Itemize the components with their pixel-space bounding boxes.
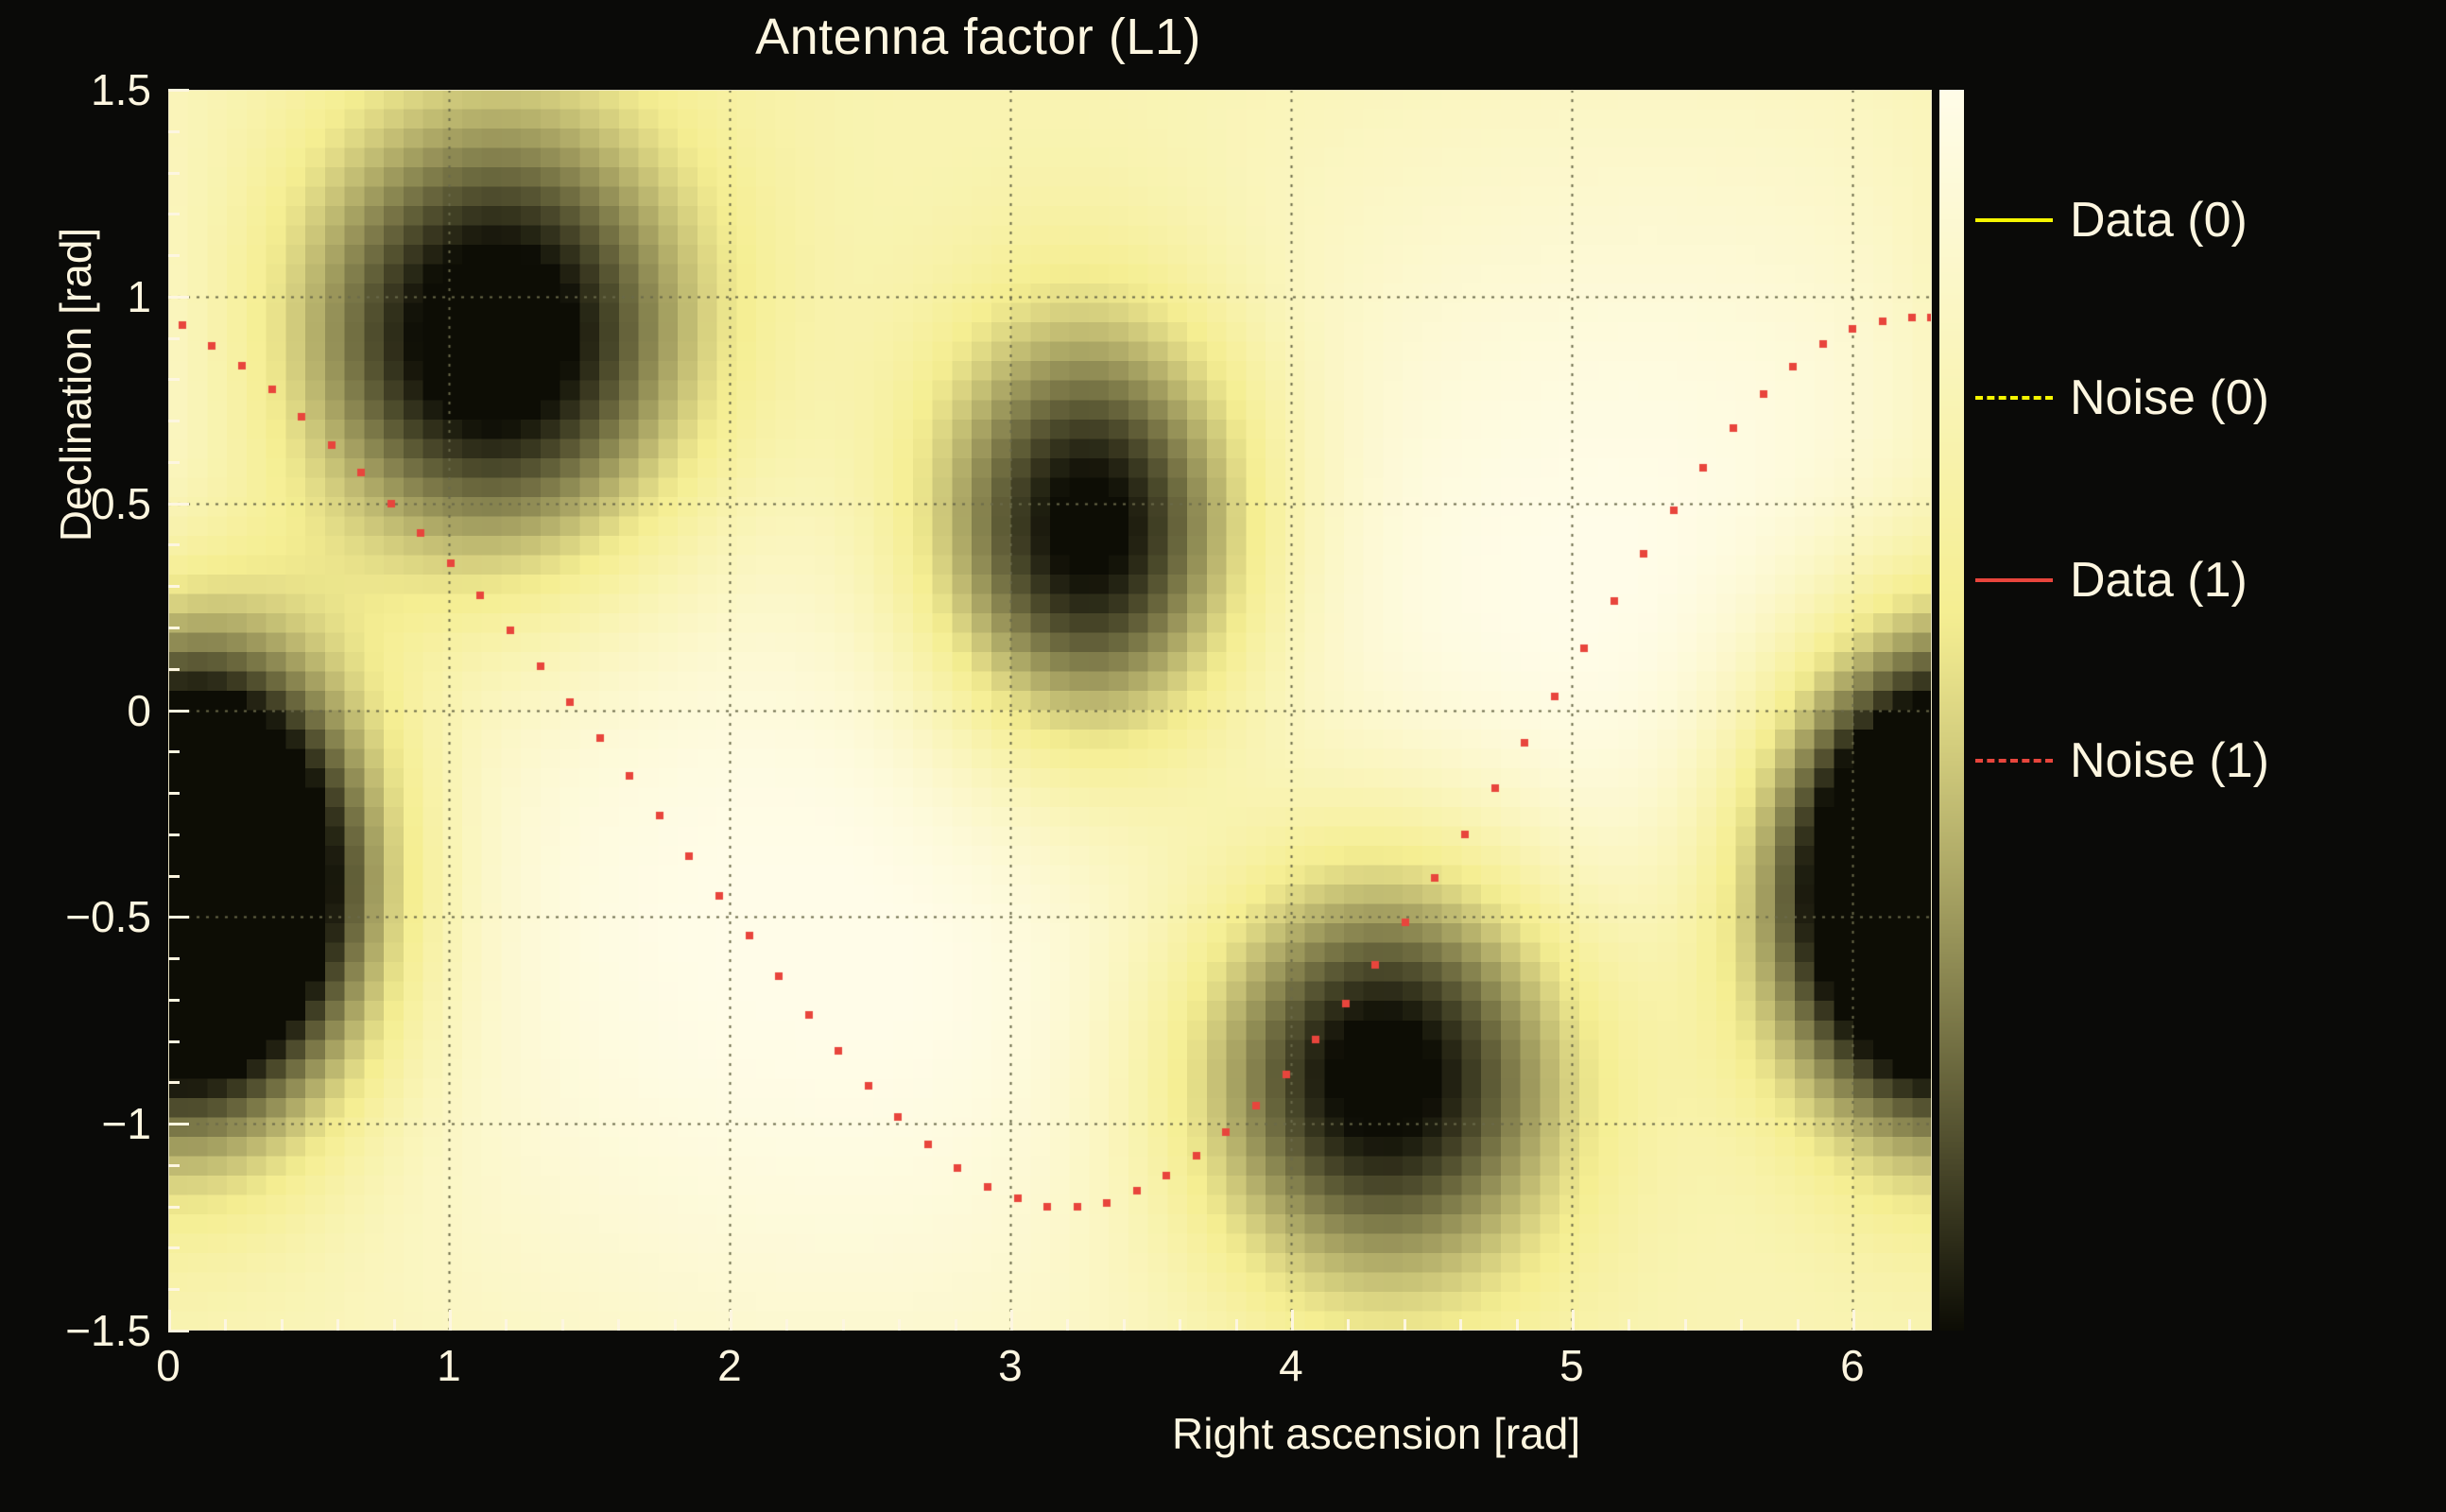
x-major-tick [1010,1310,1013,1331]
y-major-tick [168,916,189,919]
y-tick-label: −1 [102,1098,151,1149]
y-minor-tick [168,1081,180,1084]
x-minor-tick [1684,1319,1687,1331]
y-minor-tick [168,1164,180,1167]
y-tick-label: 1 [127,271,151,322]
x-major-tick [1291,1310,1294,1331]
y-major-tick [168,503,189,506]
y-minor-tick [168,543,180,546]
y-minor-tick [168,172,180,175]
y-major-tick [168,89,189,92]
legend-dotted-line-icon [1975,750,2053,771]
y-tick-label: −0.5 [65,891,151,942]
colorbar-gradient [1939,90,1964,1331]
page-title: Antenna factor (L1) [0,8,1956,66]
y-minor-tick [168,213,180,215]
x-minor-tick [1347,1319,1350,1331]
y-minor-tick [168,461,180,464]
y-axis-title: Declination [rad] [50,26,101,744]
x-minor-tick [1179,1319,1181,1331]
legend-label: Data (0) [2070,196,2248,245]
legend-entry[interactable]: Noise (1) [1975,723,2446,799]
x-minor-tick [842,1319,845,1331]
x-major-tick [449,1310,452,1331]
y-major-tick [168,296,189,299]
x-minor-tick [1066,1319,1069,1331]
x-minor-tick [1404,1319,1406,1331]
x-major-tick [730,1310,732,1331]
x-minor-tick [1740,1319,1743,1331]
y-minor-tick [168,130,180,133]
y-minor-tick [168,627,180,629]
x-minor-tick [393,1319,396,1331]
x-tick-label: 0 [156,1340,181,1391]
legend-dotted-line-icon [1975,387,2053,408]
y-minor-tick [168,1246,180,1249]
y-tick-label: 0 [127,685,151,736]
x-tick-label: 2 [717,1340,742,1391]
y-minor-tick [168,792,180,795]
x-minor-tick [617,1319,620,1331]
x-minor-tick [1908,1319,1911,1331]
x-major-tick [1852,1310,1855,1331]
y-minor-tick [168,585,180,588]
y-minor-tick [168,378,180,381]
x-minor-tick [1123,1319,1126,1331]
x-minor-tick [505,1319,508,1331]
y-minor-tick [168,957,180,960]
y-minor-tick [168,1040,180,1043]
x-major-tick [1572,1310,1575,1331]
x-minor-tick [955,1319,957,1331]
x-tick-label: 4 [1279,1340,1303,1391]
x-tick-label: 3 [998,1340,1023,1391]
plot-area[interactable] [168,90,1932,1331]
x-major-tick [168,1310,171,1331]
y-minor-tick [168,420,180,422]
x-minor-tick [1516,1319,1519,1331]
legend-entry[interactable]: Noise (0) [1975,360,2446,436]
x-minor-tick [1459,1319,1462,1331]
x-minor-tick [336,1319,339,1331]
colorbar[interactable] [1939,90,1964,1331]
legend-label: Noise (0) [2070,373,2269,422]
legend-label: Noise (1) [2070,736,2269,785]
y-minor-tick [168,875,180,878]
x-minor-tick [674,1319,677,1331]
x-minor-tick [1628,1319,1630,1331]
legend-solid-line-icon [1975,210,2053,231]
x-tick-label: 1 [437,1340,461,1391]
legend-solid-line-icon [1975,570,2053,591]
y-minor-tick [168,1206,180,1209]
x-minor-tick [281,1319,284,1331]
x-minor-tick [224,1319,227,1331]
x-minor-tick [1797,1319,1800,1331]
x-tick-label: 5 [1559,1340,1584,1391]
y-tick-label: −1.5 [65,1305,151,1356]
x-minor-tick [561,1319,564,1331]
y-minor-tick [168,750,180,753]
legend-label: Data (1) [2070,556,2248,605]
y-major-tick [168,1330,189,1332]
x-minor-tick [1235,1319,1238,1331]
legend: Data (0)Noise (0)Data (1)Noise (1) [1975,90,2446,1331]
x-minor-tick [898,1319,901,1331]
legend-entry[interactable]: Data (1) [1975,542,2446,618]
y-minor-tick [168,254,180,257]
x-tick-label: 6 [1840,1340,1865,1391]
y-minor-tick [168,1288,180,1291]
y-minor-tick [168,668,180,671]
x-axis-title: Right ascension [rad] [1172,1408,1580,1459]
legend-entry[interactable]: Data (0) [1975,182,2446,258]
y-minor-tick [168,833,180,836]
y-major-tick [168,1123,189,1125]
y-major-tick [168,710,189,713]
overlay-curves-layer [168,90,1932,1331]
x-minor-tick [785,1319,788,1331]
y-minor-tick [168,999,180,1002]
y-minor-tick [168,337,180,340]
